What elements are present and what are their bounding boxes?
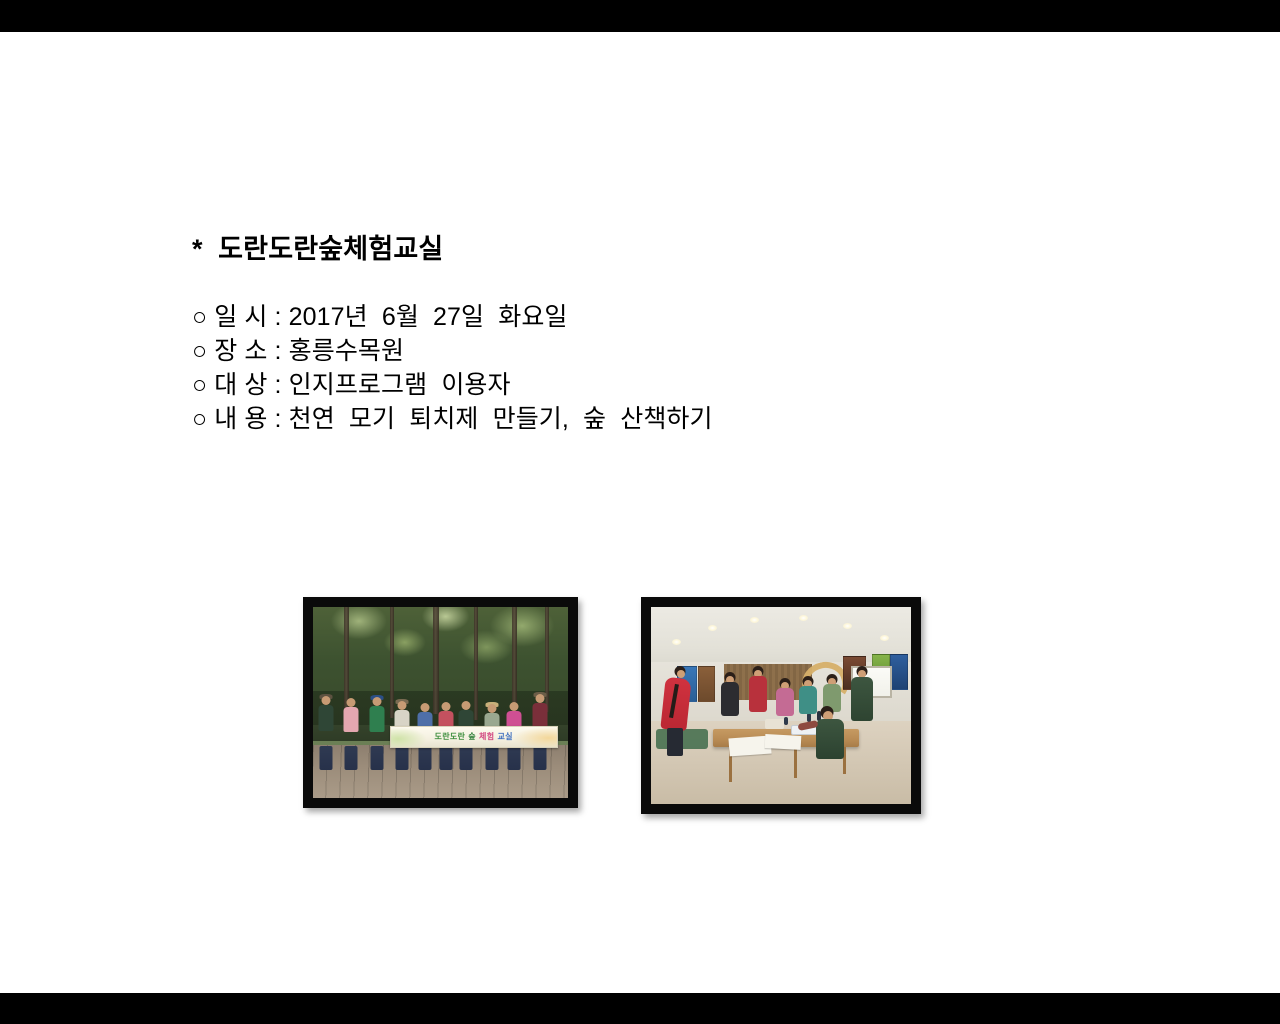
participant — [747, 666, 769, 749]
participant — [776, 678, 794, 745]
table-leg — [794, 747, 797, 779]
person-legs — [508, 746, 521, 770]
ceiling-light — [799, 615, 808, 621]
ceiling-light — [880, 635, 889, 641]
person-legs — [345, 746, 358, 770]
letterbox-bottom-bar — [0, 993, 1280, 1024]
participant-red-jacket — [661, 666, 691, 788]
banner-part-1: 도란도란 — [435, 732, 466, 741]
detail-list: ○ 일 시 : 2017년 6월 27일 화요일 ○ 장 소 : 홍릉수목원 ○… — [192, 300, 1192, 436]
person-head — [441, 702, 450, 711]
person-head — [347, 698, 356, 707]
list-item-location: ○ 장 소 : 홍릉수목원 — [192, 334, 1192, 368]
person-body — [851, 677, 873, 721]
person-legs — [396, 746, 409, 770]
person-body — [318, 705, 333, 731]
person-head — [462, 701, 471, 710]
group-photo-image: 도란도란 숲 체험 교실 — [313, 607, 568, 798]
person-body — [344, 707, 359, 732]
person-legs — [319, 746, 332, 770]
person-face — [677, 670, 685, 678]
ceiling-light — [843, 623, 852, 629]
list-item-date: ○ 일 시 : 2017년 6월 27일 화요일 — [192, 300, 1192, 334]
banner-part-3: 체험 — [479, 732, 497, 741]
ceiling-light — [708, 625, 717, 631]
presentation-screen: * 도란도란숲체험교실 ○ 일 시 : 2017년 6월 27일 화요일 ○ 장… — [0, 0, 1280, 1024]
banner-part-2: 숲 — [465, 732, 479, 741]
tree-trunk — [512, 607, 517, 716]
person-body — [369, 706, 384, 732]
staff-standing — [849, 666, 875, 768]
participant — [719, 672, 741, 751]
person-head — [421, 703, 430, 712]
workshop-photo-image — [651, 607, 911, 804]
wall-poster — [698, 666, 716, 701]
list-item-content: ○ 내 용 : 천연 모기 퇴치제 만들기, 숲 산책하기 — [192, 402, 1192, 436]
person-legs — [485, 746, 498, 770]
banner-part-4: 교실 — [497, 732, 512, 741]
list-item-audience: ○ 대 상 : 인지프로그램 이용자 — [192, 368, 1192, 402]
slide-canvas: * 도란도란숲체험교실 ○ 일 시 : 2017년 6월 27일 화요일 ○ 장… — [0, 32, 1280, 993]
person-body — [749, 676, 767, 712]
person-head — [535, 694, 544, 703]
person-legs — [667, 728, 683, 756]
person-head — [321, 696, 330, 705]
person-legs — [370, 746, 383, 770]
person-head — [510, 702, 519, 711]
forest-scene: 도란도란 숲 체험 교실 — [313, 607, 568, 798]
tree-trunk — [433, 607, 439, 714]
tree-trunk — [474, 607, 478, 720]
person-legs — [533, 746, 546, 770]
person-body — [776, 688, 794, 716]
person-head — [398, 701, 407, 710]
person-head — [487, 704, 496, 713]
group-photo-frame: 도란도란 숲 체험 교실 — [303, 597, 578, 808]
tree-trunk — [390, 607, 394, 718]
person-legs — [419, 746, 432, 770]
person-head — [372, 697, 381, 706]
instructor-seated — [812, 706, 846, 801]
page-title: * 도란도란숲체험교실 — [192, 232, 1192, 266]
person-legs — [460, 746, 473, 770]
wall-poster — [890, 654, 908, 689]
person-body — [816, 719, 844, 759]
ceiling-light — [672, 639, 681, 645]
workshop-photo-frame — [641, 597, 921, 814]
letterbox-top-bar — [0, 0, 1280, 32]
person-body — [721, 682, 739, 716]
slide-text-block: * 도란도란숲체험교실 ○ 일 시 : 2017년 6월 27일 화요일 ○ 장… — [192, 232, 1192, 436]
event-banner: 도란도란 숲 체험 교실 — [390, 726, 558, 748]
ceiling-light — [750, 617, 759, 623]
banner-text: 도란도란 숲 체험 교실 — [435, 733, 513, 741]
person-legs — [439, 746, 452, 770]
workshop-scene — [651, 607, 911, 804]
